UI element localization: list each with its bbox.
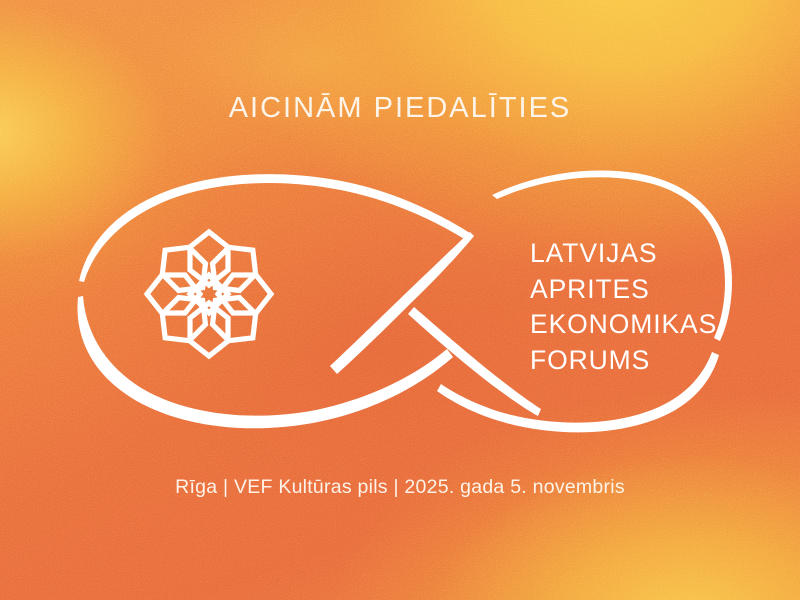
brand-line-4: FORUMS [530, 343, 717, 379]
eight-petal-rosette-icon [121, 206, 296, 381]
page-title: AICINĀM PIEDALĪTIES [0, 92, 800, 125]
event-details-line: Rīga | VEF Kultūras pils | 2025. gada 5.… [0, 476, 800, 499]
brand-name-block: LATVIJAS APRITES EKONOMIKAS FORUMS [530, 236, 717, 378]
brand-line-2: APRITES [530, 272, 717, 308]
poster-canvas: AICINĀM PIEDALĪTIES LATVIJAS APRITES EKO… [0, 0, 800, 600]
ribbon-left-upper-arc [79, 174, 470, 282]
brand-line-1: LATVIJAS [530, 236, 717, 272]
ribbon-crossover-ascending [408, 307, 541, 416]
brand-line-3: EKONOMIKAS [530, 307, 717, 343]
